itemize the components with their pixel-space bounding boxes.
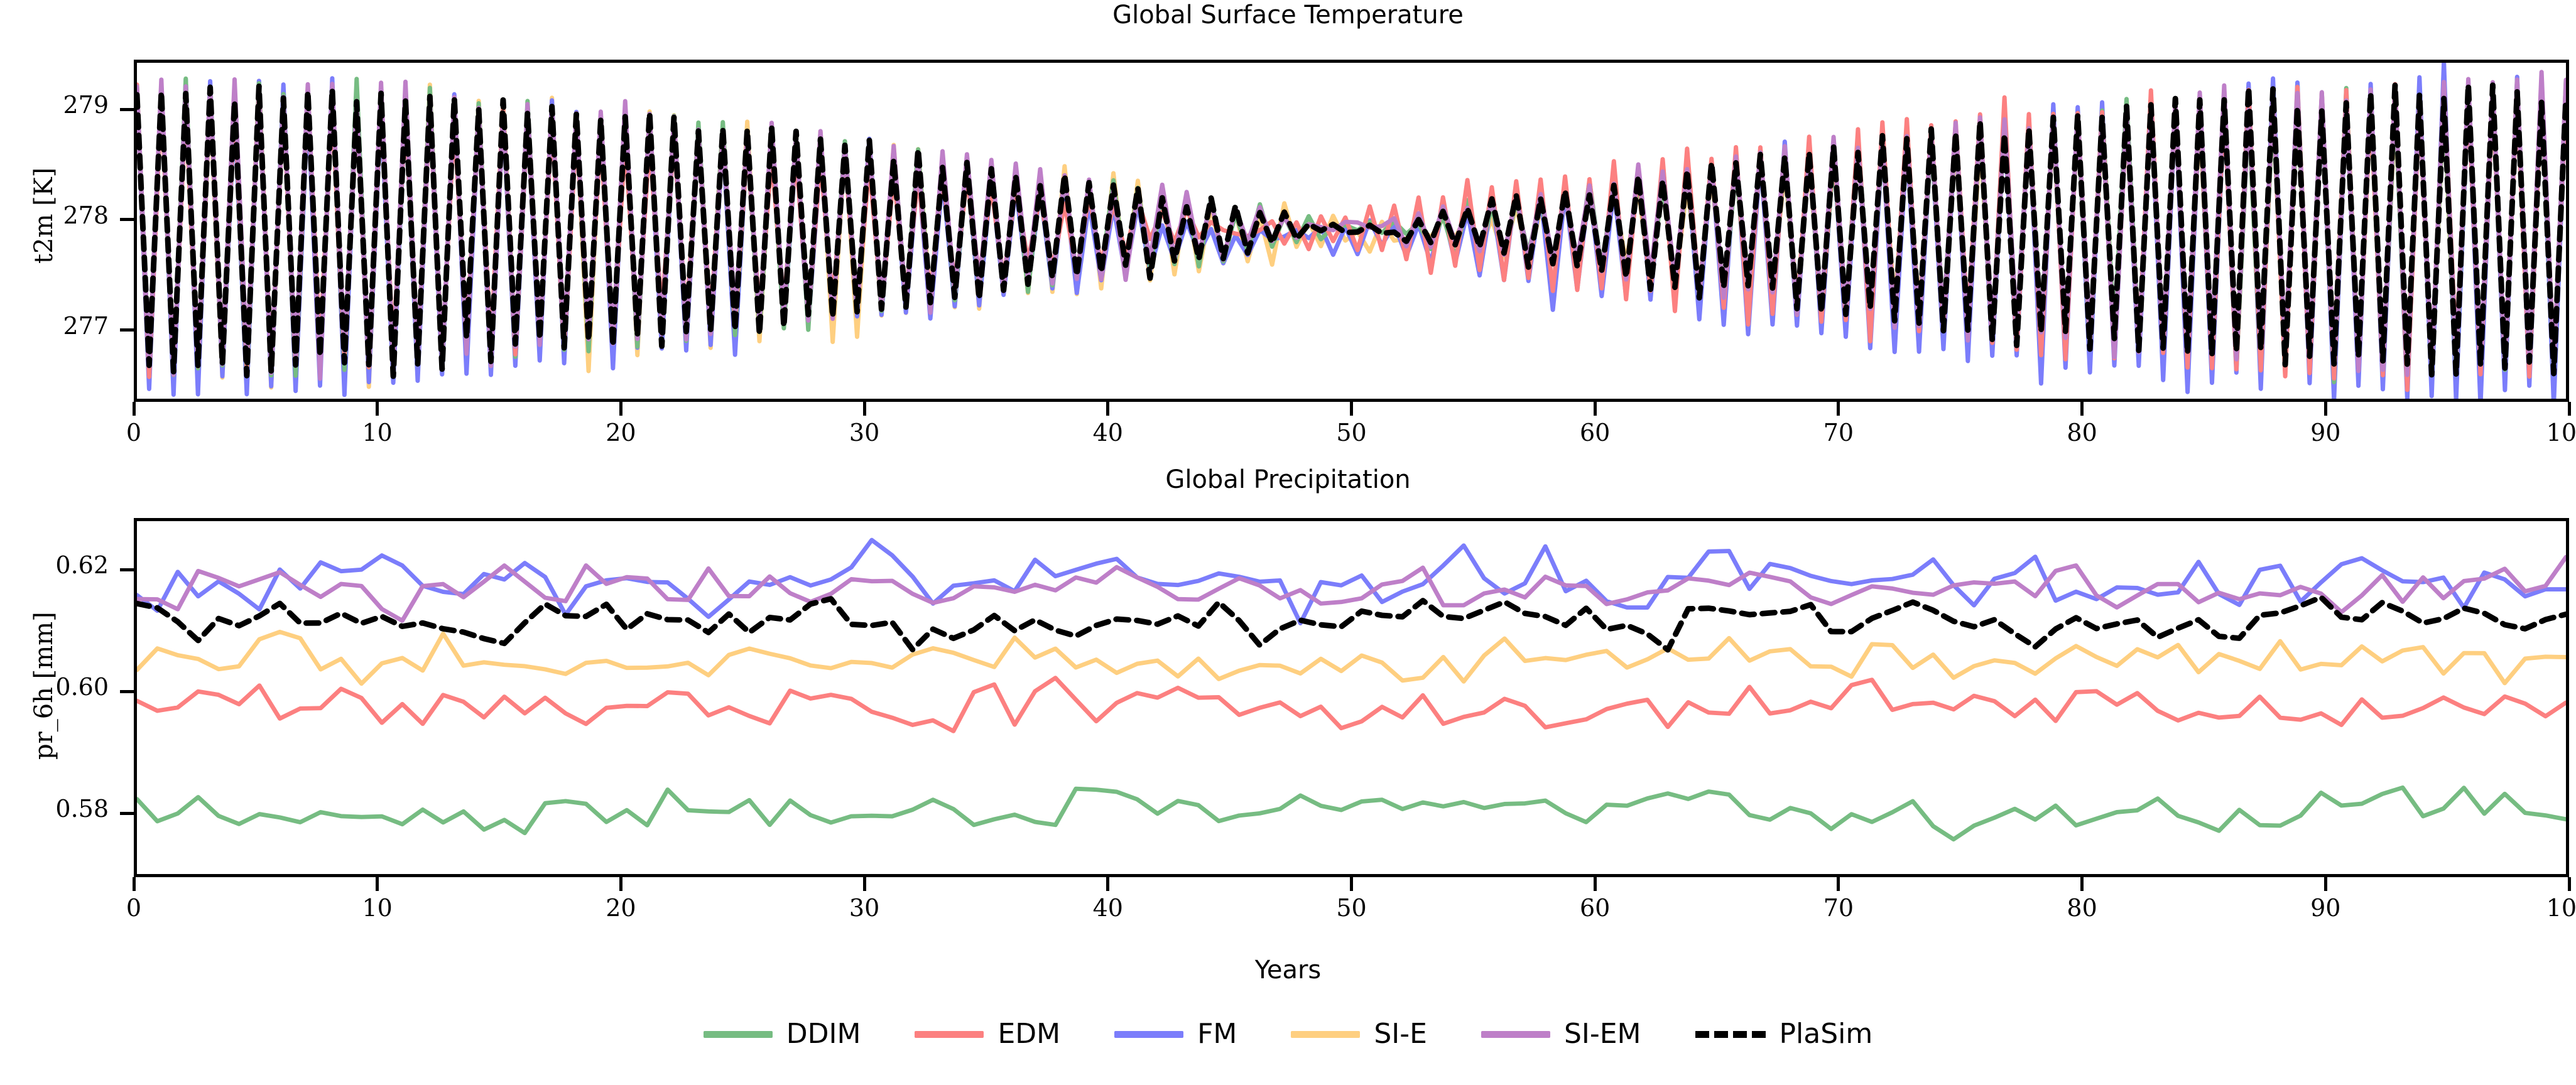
legend-swatch-plasim-icon [1695,1031,1766,1038]
legend-entry-plasim[interactable]: PlaSim [1695,1020,1873,1048]
x-tick-mark [376,877,379,891]
legend-label: FM [1197,1020,1237,1048]
x-tick-label: 90 [2310,896,2340,920]
x-tick-mark [2324,402,2327,416]
y-tick-label: 278 [0,203,109,227]
x-tick-label: 80 [2067,896,2097,920]
figure-root: Global Surface Temperature t2m [K] 27727… [0,0,2576,1085]
precipitation-chart-title: Global Precipitation [0,467,2576,492]
x-tick-mark [863,402,866,416]
x-tick-label: 40 [1093,421,1123,445]
precipitation-series-canvas [137,521,2566,874]
x-tick-label: 70 [1823,896,1854,920]
x-tick-mark [2080,402,2084,416]
x-tick-mark [863,877,866,891]
x-tick-label: 80 [2067,421,2097,445]
x-tick-mark [1837,877,1840,891]
legend-label: PlaSim [1780,1020,1873,1048]
x-tick-label: 70 [1823,421,1854,445]
y-tick-mark [120,328,134,332]
x-tick-mark [133,877,136,891]
x-tick-mark [1106,402,1109,416]
precipitation-x-axis-label: Years [0,958,2576,983]
x-tick-label: 50 [1336,896,1366,920]
x-tick-mark [1350,402,1353,416]
legend-entry-fm[interactable]: FM [1114,1020,1237,1048]
x-tick-label: 60 [1580,421,1610,445]
x-tick-mark [376,402,379,416]
x-tick-mark [2080,877,2084,891]
x-tick-label: 60 [1580,896,1610,920]
x-tick-mark [619,877,622,891]
legend-label: EDM [997,1020,1060,1048]
legend-swatch-edm-icon [915,1031,984,1038]
figure-legend: DDIMEDMFMSI-ESI-EMPlaSim [0,1012,2576,1056]
y-tick-mark [120,568,134,571]
panel-precipitation: Global Precipitation pr_6h [mm] 0.580.60… [0,465,2576,1005]
y-tick-label: 0.62 [0,553,109,577]
x-tick-label: 0 [126,421,141,445]
x-tick-mark [1106,877,1109,891]
x-tick-mark [2324,877,2327,891]
series-line-ddim [137,787,2566,839]
x-tick-label: 20 [606,421,636,445]
legend-swatch-si-em-icon [1481,1031,1550,1038]
legend-label: SI-EM [1564,1020,1641,1048]
x-tick-label: 50 [1336,421,1366,445]
temperature-plot-area [134,60,2569,402]
x-tick-mark [133,402,136,416]
legend-entry-si-e[interactable]: SI-E [1291,1020,1427,1048]
x-tick-label: 0 [126,896,141,920]
x-tick-label: 10 [362,421,393,445]
y-tick-label: 0.60 [0,675,109,699]
x-tick-mark [2568,402,2571,416]
panel-temperature: Global Surface Temperature t2m [K] 27727… [0,0,2576,452]
series-line-plasim [137,597,2566,650]
x-tick-label: 100 [2546,896,2576,920]
x-tick-label: 90 [2310,421,2340,445]
y-tick-mark [120,218,134,221]
series-line-si-e [137,632,2566,683]
x-tick-label: 100 [2546,421,2576,445]
x-tick-label: 10 [362,896,393,920]
y-tick-mark [120,812,134,815]
precipitation-plot-area [134,518,2569,877]
x-tick-label: 30 [849,896,879,920]
legend-label: SI-E [1374,1020,1427,1048]
series-line-edm [137,678,2566,731]
y-tick-label: 277 [0,314,109,338]
x-tick-label: 30 [849,421,879,445]
x-tick-mark [2568,877,2571,891]
legend-swatch-fm-icon [1114,1031,1183,1038]
legend-swatch-si-e-icon [1291,1031,1360,1038]
legend-entry-edm[interactable]: EDM [915,1020,1060,1048]
x-tick-label: 20 [606,896,636,920]
x-tick-label: 40 [1093,896,1123,920]
y-tick-label: 279 [0,93,109,117]
x-tick-mark [1594,877,1597,891]
legend-swatch-ddim-icon [704,1031,773,1038]
legend-entry-ddim[interactable]: DDIM [704,1020,861,1048]
y-tick-mark [120,108,134,111]
legend-label: DDIM [786,1020,861,1048]
x-tick-mark [1594,402,1597,416]
legend-entry-si-em[interactable]: SI-EM [1481,1020,1641,1048]
y-tick-mark [120,690,134,693]
temperature-chart-title: Global Surface Temperature [0,3,2576,28]
series-line-fm [137,540,2566,623]
x-tick-mark [619,402,622,416]
x-tick-mark [1350,877,1353,891]
y-tick-label: 0.58 [0,797,109,821]
x-tick-mark [1837,402,1840,416]
temperature-series-canvas [137,63,2566,399]
